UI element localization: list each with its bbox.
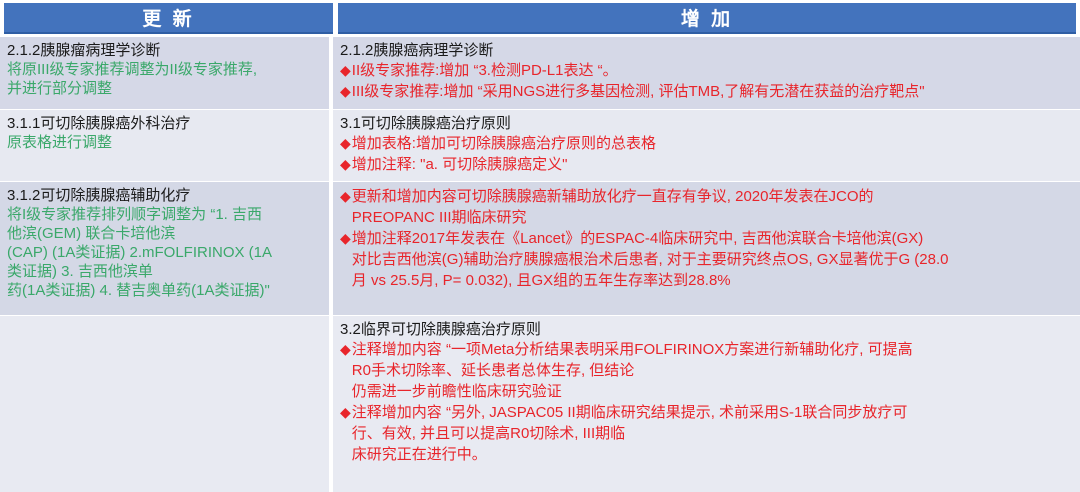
comparison-table: 更 新 增 加 2.1.2胰腺瘤病理学诊断 将原III级专家推荐调整为II级专家…	[0, 0, 1080, 492]
diamond-bullet-icon: ◆	[340, 186, 351, 207]
row-3-update-body: 将I级专家推荐排列顺字调整为 “1. 吉西 他滨(GEM) 联合卡培他滨 (CA…	[7, 205, 324, 300]
column-header-update: 更 新	[4, 3, 333, 34]
row-4-add-bullet-1: ◆ 注释增加内容 “一项Meta分析结果表明采用FOLFIRINOX方案进行新辅…	[340, 339, 1075, 402]
row-3-add-cell: ◆ 更新和增加内容可切除胰腺癌新辅助放化疗一直存有争议, 2020年发表在JCO…	[333, 182, 1080, 315]
row-2-update-cell: 3.1.1可切除胰腺癌外科治疗 原表格进行调整	[0, 110, 333, 181]
row-4-add-title: 3.2临界可切除胰腺癌治疗原则	[340, 320, 1075, 339]
row-2-add-bullet-2: ◆ 增加注释: "a. 可切除胰腺癌定义"	[340, 154, 1075, 175]
diamond-bullet-icon: ◆	[340, 339, 351, 360]
row-4-add-bullet-2: ◆ 注释增加内容 “另外, JASPAC05 II期临床研究结果提示, 术前采用…	[340, 402, 1075, 465]
row-2-add-title: 3.1可切除胰腺癌治疗原则	[340, 114, 1075, 133]
diamond-bullet-icon: ◆	[340, 154, 351, 175]
diamond-bullet-icon: ◆	[340, 81, 351, 102]
row-2-add-cell: 3.1可切除胰腺癌治疗原则 ◆ 增加表格:增加可切除胰腺癌治疗原则的总表格 ◆ …	[333, 110, 1080, 181]
row-1-add-bullet-2-text: III级专家推荐:增加 “采用NGS进行多基因检测, 评估TMB,了解有无潜在获…	[352, 81, 1075, 102]
row-3-add-bullet-2-text: 增加注释2017年发表在《Lancet》的ESPAC-4临床研究中, 吉西他滨联…	[352, 228, 1075, 291]
row-2-add-bullet-2-text: 增加注释: "a. 可切除胰腺癌定义"	[352, 154, 1075, 175]
diamond-bullet-icon: ◆	[340, 60, 351, 81]
row-1-update-body: 将原III级专家推荐调整为II级专家推荐, 并进行部分调整	[7, 60, 324, 98]
row-3-add-bullet-2: ◆ 增加注释2017年发表在《Lancet》的ESPAC-4临床研究中, 吉西他…	[340, 228, 1075, 291]
row-1-update-title: 2.1.2胰腺瘤病理学诊断	[7, 41, 324, 60]
row-1-update-cell: 2.1.2胰腺瘤病理学诊断 将原III级专家推荐调整为II级专家推荐, 并进行部…	[0, 37, 333, 109]
table-body: 2.1.2胰腺瘤病理学诊断 将原III级专家推荐调整为II级专家推荐, 并进行部…	[0, 36, 1080, 492]
row-1-add-title: 2.1.2胰腺癌病理学诊断	[340, 41, 1075, 60]
row-3-add-bullet-1-text: 更新和增加内容可切除胰腺癌新辅助放化疗一直存有争议, 2020年发表在JCO的 …	[352, 186, 1075, 228]
column-header-add: 增 加	[338, 3, 1076, 34]
diamond-bullet-icon: ◆	[340, 133, 351, 154]
row-1-add-cell: 2.1.2胰腺癌病理学诊断 ◆ II级专家推荐:增加 “3.检测PD-L1表达 …	[333, 37, 1080, 109]
row-3-add-bullet-1: ◆ 更新和增加内容可切除胰腺癌新辅助放化疗一直存有争议, 2020年发表在JCO…	[340, 186, 1075, 228]
row-1-add-bullet-2: ◆ III级专家推荐:增加 “采用NGS进行多基因检测, 评估TMB,了解有无潜…	[340, 81, 1075, 102]
row-4-add-bullet-1-text: 注释增加内容 “一项Meta分析结果表明采用FOLFIRINOX方案进行新辅助化…	[352, 339, 1075, 402]
row-1-add-bullet-1-text: II级专家推荐:增加 “3.检测PD-L1表达 “。	[352, 60, 1075, 81]
row-3-update-title: 3.1.2可切除胰腺癌辅助化疗	[7, 186, 324, 205]
diamond-bullet-icon: ◆	[340, 402, 351, 423]
row-4-add-cell: 3.2临界可切除胰腺癌治疗原则 ◆ 注释增加内容 “一项Meta分析结果表明采用…	[333, 316, 1080, 492]
table-row: 3.1.1可切除胰腺癌外科治疗 原表格进行调整 3.1可切除胰腺癌治疗原则 ◆ …	[0, 109, 1080, 181]
row-4-update-cell	[0, 316, 333, 492]
row-4-add-bullet-2-text: 注释增加内容 “另外, JASPAC05 II期临床研究结果提示, 术前采用S-…	[352, 402, 1075, 465]
table-row: 3.1.2可切除胰腺癌辅助化疗 将I级专家推荐排列顺字调整为 “1. 吉西 他滨…	[0, 181, 1080, 315]
row-3-update-cell: 3.1.2可切除胰腺癌辅助化疗 将I级专家推荐排列顺字调整为 “1. 吉西 他滨…	[0, 182, 333, 315]
row-2-add-bullet-1: ◆ 增加表格:增加可切除胰腺癌治疗原则的总表格	[340, 133, 1075, 154]
diamond-bullet-icon: ◆	[340, 228, 351, 249]
table-row: 3.2临界可切除胰腺癌治疗原则 ◆ 注释增加内容 “一项Meta分析结果表明采用…	[0, 315, 1080, 492]
row-2-update-body: 原表格进行调整	[7, 133, 324, 152]
row-1-add-bullet-1: ◆ II级专家推荐:增加 “3.检测PD-L1表达 “。	[340, 60, 1075, 81]
row-2-add-bullet-1-text: 增加表格:增加可切除胰腺癌治疗原则的总表格	[352, 133, 1075, 154]
row-2-update-title: 3.1.1可切除胰腺癌外科治疗	[7, 114, 324, 133]
table-header-row: 更 新 增 加	[0, 0, 1080, 36]
table-row: 2.1.2胰腺瘤病理学诊断 将原III级专家推荐调整为II级专家推荐, 并进行部…	[0, 36, 1080, 109]
